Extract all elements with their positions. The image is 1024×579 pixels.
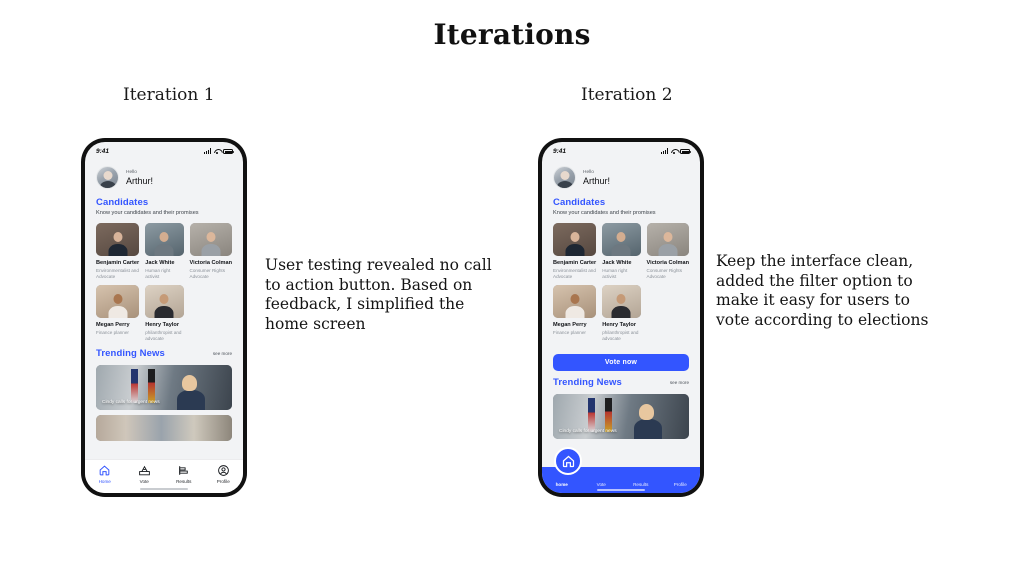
candidate-role: Human right activist — [145, 268, 183, 280]
nav-label: Profile — [217, 479, 230, 484]
iteration-2-label: Iteration 2 — [581, 85, 673, 105]
wifi-icon — [214, 148, 221, 154]
nav-label: Home — [99, 479, 111, 484]
candidate-name: Victoria Colman — [190, 260, 232, 267]
candidate-role: Environmentalist and Advocate — [96, 268, 139, 280]
candidate-card[interactable]: Benjamin Carter Environmentalist and Adv… — [96, 223, 139, 280]
candidate-photo — [96, 223, 139, 256]
home-fab-button[interactable] — [554, 447, 582, 475]
candidate-card[interactable]: Henry Taylor philanthropist and advocate — [602, 285, 640, 342]
phone-mockup-iteration-1: 9:41 Hello Arthur! Candidates Know your … — [81, 138, 247, 497]
candidate-role: Environmentalist and Advocate — [553, 268, 596, 280]
nav-item-home[interactable]: Home — [88, 464, 122, 484]
avatar[interactable] — [96, 166, 119, 189]
home-indicator — [597, 489, 645, 491]
candidate-name: Benjamin Carter — [96, 260, 139, 267]
nav-item-results[interactable]: Results — [167, 464, 201, 484]
candidate-card[interactable]: Jack White Human right activist — [145, 223, 183, 280]
candidate-photo — [145, 223, 183, 256]
person-circle-icon — [217, 464, 230, 477]
candidates-grid: Benjamin Carter Environmentalist and Adv… — [85, 216, 243, 342]
candidate-photo — [553, 223, 596, 256]
greeting-username: Arthur! — [126, 176, 153, 187]
nav-item-vote[interactable]: Vote — [584, 482, 618, 487]
phone-screen-1: 9:41 Hello Arthur! Candidates Know your … — [85, 142, 243, 493]
greeting-username: Arthur! — [583, 176, 610, 187]
news-card[interactable]: Cindy calls for urgent news — [553, 394, 689, 439]
candidates-subtitle: Know your candidates and their promises — [85, 208, 243, 216]
see-more-link[interactable]: see more — [213, 351, 232, 356]
status-time: 9:41 — [553, 148, 566, 155]
candidate-name: Jack White — [145, 260, 183, 267]
greeting-hello: Hello — [583, 169, 610, 176]
news-header: Trending News see more — [542, 371, 700, 388]
candidate-name: Victoria Colman — [647, 260, 689, 267]
greeting-block: Hello Arthur! — [85, 158, 243, 191]
bottom-nav-v1: Home Vote Results Profile — [85, 459, 243, 493]
candidate-role: Finance planner — [96, 330, 139, 336]
home-indicator — [140, 488, 188, 490]
candidate-photo — [647, 223, 689, 256]
nav-item-results[interactable]: Results — [624, 482, 658, 487]
candidates-heading: Candidates — [542, 191, 700, 208]
nav-label: Vote — [597, 482, 606, 487]
candidate-name: Jack White — [602, 260, 640, 267]
nav-item-profile[interactable]: Profile — [206, 464, 240, 484]
see-more-link[interactable]: see more — [670, 380, 689, 385]
home-icon — [98, 464, 111, 477]
candidate-card[interactable]: Victoria Colman Consumer Rights Advocate — [190, 223, 232, 280]
candidate-photo — [553, 285, 596, 318]
candidate-card[interactable]: Megan Perry Finance planner — [553, 285, 596, 342]
candidate-name: Henry Taylor — [602, 322, 640, 329]
candidate-card[interactable]: Jack White Human right activist — [602, 223, 640, 280]
candidate-photo — [602, 285, 640, 318]
nav-item-vote[interactable]: Vote — [127, 464, 161, 484]
nav-label: Vote — [140, 479, 149, 484]
candidate-card[interactable]: Benjamin Carter Environmentalist and Adv… — [553, 223, 596, 280]
home-icon — [561, 454, 576, 469]
candidate-role: philanthropist and advocate — [602, 330, 640, 342]
nav-label: Results — [176, 479, 191, 484]
status-bar: 9:41 — [542, 142, 700, 158]
candidate-role: Human right activist — [602, 268, 640, 280]
greeting-hello: Hello — [126, 169, 153, 176]
iteration-2-annotation: Keep the interface clean, added the filt… — [716, 252, 948, 330]
candidate-photo — [190, 223, 232, 256]
news-list: Cindy calls for urgent news — [542, 388, 700, 439]
nav-item-profile[interactable]: Profile — [663, 482, 697, 487]
candidate-photo — [145, 285, 183, 318]
phone-screen-2: 9:41 Hello Arthur! Candidates Know your … — [542, 142, 700, 493]
signal-bars-icon — [661, 148, 668, 154]
nav-label: Results — [633, 482, 648, 487]
candidate-name: Henry Taylor — [145, 322, 183, 329]
candidate-card[interactable]: Megan Perry Finance planner — [96, 285, 139, 342]
candidate-photo — [96, 285, 139, 318]
status-bar: 9:41 — [85, 142, 243, 158]
greeting-block: Hello Arthur! — [542, 158, 700, 191]
news-header: Trending News see more — [85, 342, 243, 359]
news-heading: Trending News — [96, 348, 165, 359]
candidate-card[interactable]: Henry Taylor philanthropist and advocate — [145, 285, 183, 342]
phone-mockup-iteration-2: 9:41 Hello Arthur! Candidates Know your … — [538, 138, 704, 497]
iteration-1-annotation: User testing revealed no call to action … — [265, 256, 497, 334]
news-card[interactable] — [96, 415, 232, 441]
candidates-heading: Candidates — [85, 191, 243, 208]
battery-icon — [680, 149, 690, 155]
candidate-card[interactable]: Victoria Colman Consumer Rights Advocate — [647, 223, 689, 280]
vote-now-button[interactable]: Vote now — [553, 354, 689, 371]
status-time: 9:41 — [96, 148, 109, 155]
ballot-box-icon — [138, 464, 151, 477]
candidate-name: Benjamin Carter — [553, 260, 596, 267]
candidate-photo — [602, 223, 640, 256]
news-list: Cindy calls for urgent news — [85, 359, 243, 441]
nav-label: home — [556, 482, 568, 487]
battery-icon — [223, 149, 233, 155]
status-icons — [661, 148, 690, 154]
iteration-1-label: Iteration 1 — [123, 85, 215, 105]
status-icons — [204, 148, 233, 154]
candidates-subtitle: Know your candidates and their promises — [542, 208, 700, 216]
avatar[interactable] — [553, 166, 576, 189]
candidate-name: Megan Perry — [553, 322, 596, 329]
candidate-role: philanthropist and advocate — [145, 330, 183, 342]
candidate-role: Consumer Rights Advocate — [647, 268, 689, 280]
news-card[interactable]: Cindy calls for urgent news — [96, 365, 232, 410]
signal-bars-icon — [204, 148, 211, 154]
candidate-role: Finance planner — [553, 330, 596, 336]
nav-item-home[interactable]: home — [545, 482, 579, 487]
wifi-icon — [671, 148, 678, 154]
candidate-role: Consumer Rights Advocate — [190, 268, 232, 280]
news-caption: Cindy calls for urgent news — [102, 400, 160, 405]
nav-label: Profile — [674, 482, 687, 487]
candidates-grid: Benjamin Carter Environmentalist and Adv… — [542, 216, 700, 342]
news-heading: Trending News — [553, 377, 622, 388]
candidate-name: Megan Perry — [96, 322, 139, 329]
slide-canvas: Iterations Iteration 1 Iteration 2 User … — [0, 0, 1024, 579]
page-title: Iterations — [0, 18, 1024, 51]
bar-chart-icon — [177, 464, 190, 477]
news-caption: Cindy calls for urgent news — [559, 429, 617, 434]
